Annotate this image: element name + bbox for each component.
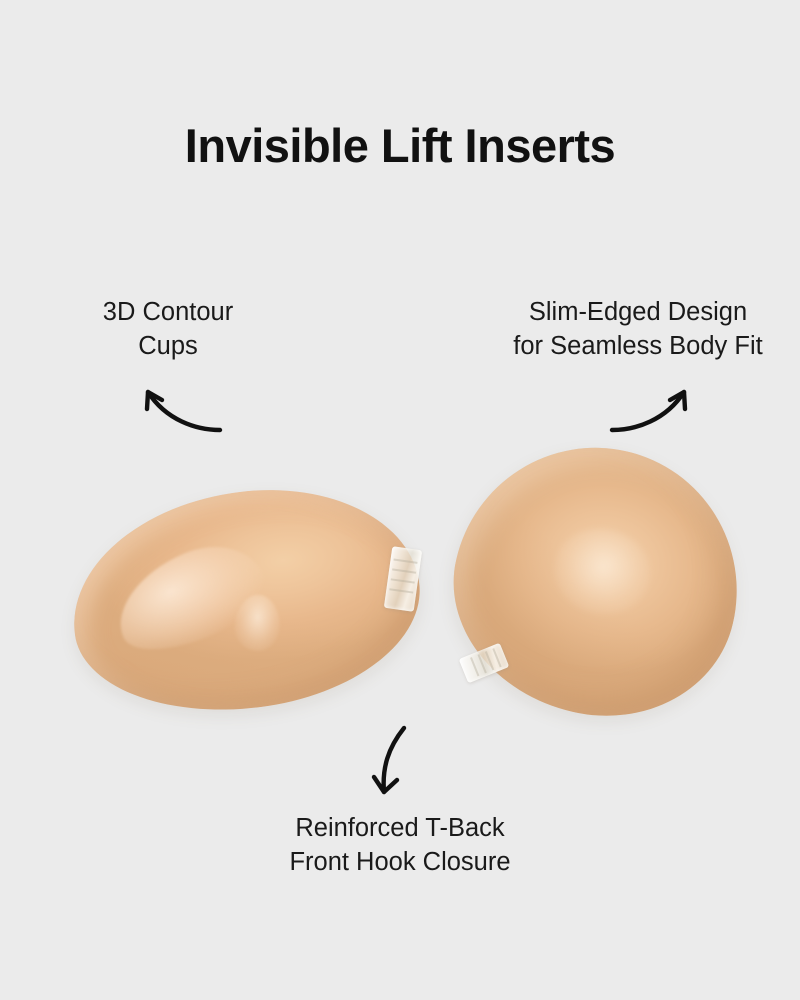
infographic-canvas: Invisible Lift Inserts	[0, 0, 800, 1000]
callout-label-t-back-closure: Reinforced T-Back Front Hook Closure	[230, 812, 570, 879]
product-right-insert	[429, 419, 766, 742]
callout-label-contour-cups: 3D Contour Cups	[28, 296, 308, 363]
product-left-insert	[60, 472, 432, 729]
callout-label-slim-edge: Slim-Edged Design for Seamless Body Fit	[486, 296, 790, 363]
